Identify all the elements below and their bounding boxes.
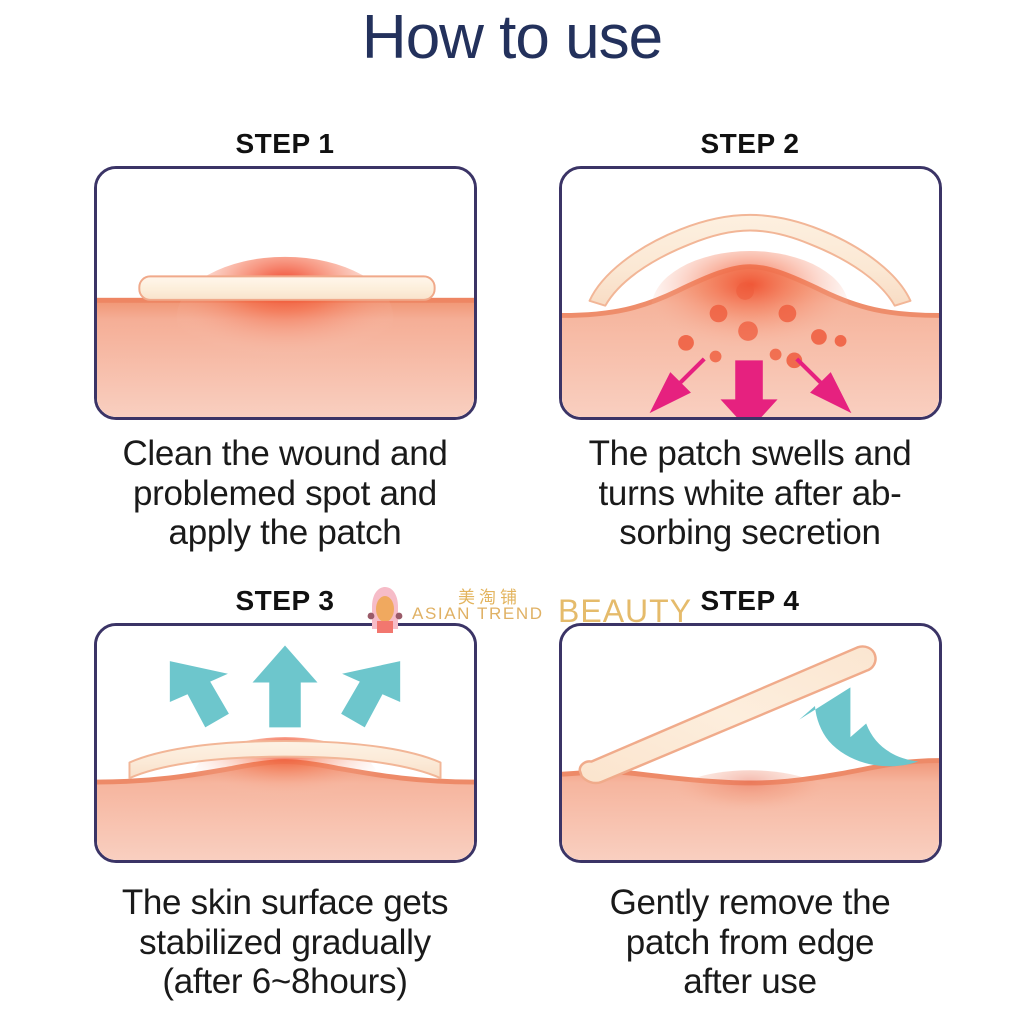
step-caption-4: Gently remove the patch from edge after …: [525, 883, 975, 1002]
step-block-4: STEP 4: [525, 583, 975, 1002]
step-caption-2: The patch swells and turns white after a…: [525, 434, 975, 553]
caption-line: apply the patch: [60, 513, 510, 553]
step-label-2: STEP 2: [525, 126, 975, 166]
caption-line: after use: [525, 962, 975, 1002]
step-block-3: STEP 3: [60, 583, 510, 1002]
step-illustration-3: [94, 623, 477, 863]
caption-line: The skin surface gets: [60, 883, 510, 923]
step-block-1: STEP 1: [60, 126, 510, 553]
swollen-patch-secretion-icon: [562, 169, 939, 417]
step-block-2: STEP 2: [525, 126, 975, 553]
step-illustration-1: [94, 166, 477, 420]
flat-patch-on-inflamed-skin-icon: [97, 169, 474, 417]
step-label-1: STEP 1: [60, 126, 510, 166]
caption-line: problemed spot and: [60, 474, 510, 514]
stabilizing-skin-icon: [97, 626, 474, 860]
caption-line: patch from edge: [525, 923, 975, 963]
caption-line: Clean the wound and: [60, 434, 510, 474]
caption-line: The patch swells and: [525, 434, 975, 474]
page-title: How to use: [0, 4, 1024, 72]
caption-line: stabilized gradually: [60, 923, 510, 963]
step-caption-1: Clean the wound and problemed spot and a…: [60, 434, 510, 553]
caption-line: turns white after ab-: [525, 474, 975, 514]
step-illustration-4: [559, 623, 942, 863]
peel-patch-icon: [562, 626, 939, 860]
caption-line: Gently remove the: [525, 883, 975, 923]
step-illustration-2: [559, 166, 942, 420]
step-label-3: STEP 3: [60, 583, 510, 623]
how-to-use-infographic: How to use STEP 1: [0, 0, 1024, 1024]
step-caption-3: The skin surface gets stabilized gradual…: [60, 883, 510, 1002]
step-label-4: STEP 4: [525, 583, 975, 623]
caption-line: (after 6~8hours): [60, 962, 510, 1002]
caption-line: sorbing secretion: [525, 513, 975, 553]
